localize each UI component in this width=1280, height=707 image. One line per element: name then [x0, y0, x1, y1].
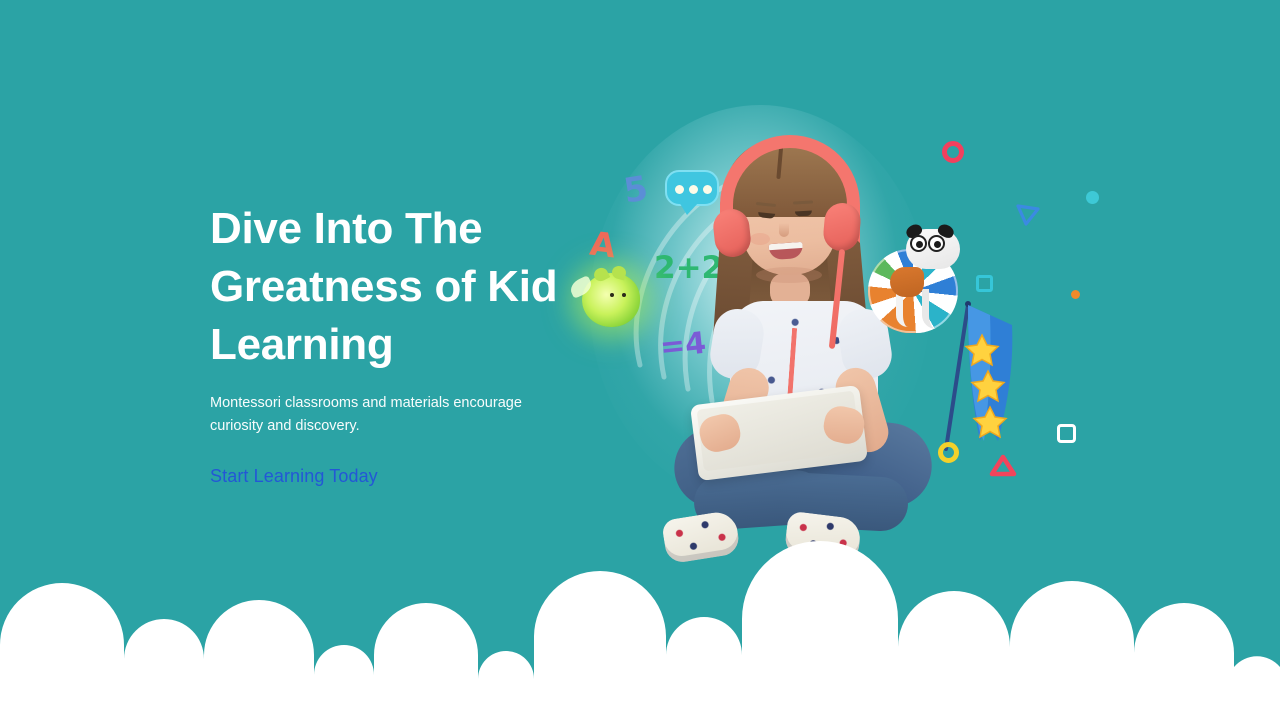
chin-shadow [756, 267, 822, 283]
hero-copy-block: Dive Into The Greatness of Kid Learning … [210, 200, 590, 487]
hero-section: Dive Into The Greatness of Kid Learning … [0, 0, 1280, 707]
glowing-creature-icon [582, 273, 640, 327]
start-learning-today-link[interactable]: Start Learning Today [210, 466, 378, 487]
page-title: Dive Into The Greatness of Kid Learning [210, 200, 590, 374]
zebra-leg-back [922, 289, 936, 329]
square-cyan-icon [976, 275, 993, 292]
ring-pink-icon [942, 141, 964, 163]
teeth [768, 242, 802, 250]
star-banner-icon [942, 291, 1020, 451]
creature-eye-right [622, 293, 626, 297]
dot-orange-icon [1071, 290, 1080, 299]
triangle-blue-icon [1014, 202, 1042, 227]
hero-illustration: 5 A 2+2 =4 [560, 95, 980, 565]
hero-subcopy: Montessori classrooms and materials enco… [210, 392, 590, 438]
zebra-snout [890, 267, 924, 297]
zebra-eye-right [928, 235, 945, 252]
ring-yellow-icon [938, 442, 959, 463]
cloud-strip [0, 527, 1280, 707]
zebra-eye-left [910, 235, 927, 252]
dot-cyan-icon [1086, 191, 1099, 204]
square-white-icon [1057, 424, 1076, 443]
creature-eye-left [610, 293, 614, 297]
triangle-red-icon [988, 453, 1018, 479]
